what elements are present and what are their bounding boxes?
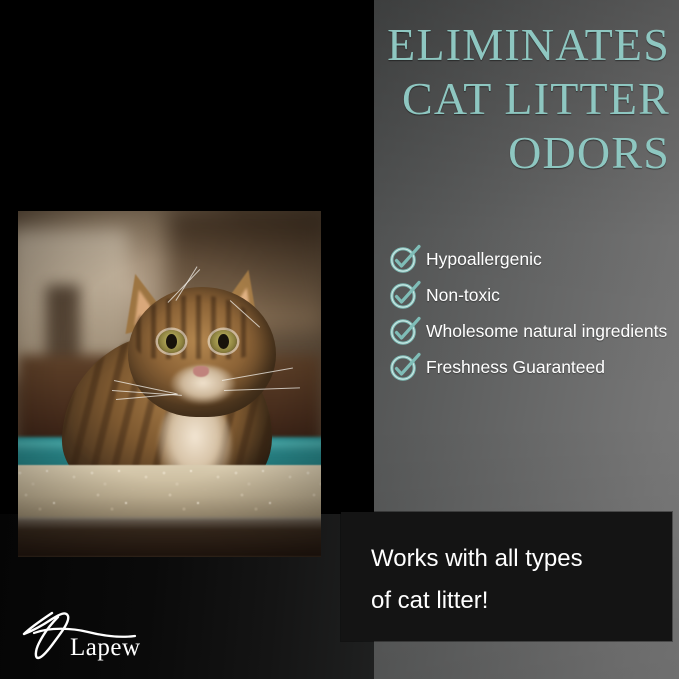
benefit-label: Hypoallergenic — [422, 243, 674, 271]
photo-vignette — [18, 211, 321, 557]
check-circle-icon — [388, 241, 422, 275]
brand-logo: Lapew — [16, 601, 186, 663]
callout-box: Works with all types of cat litter! — [341, 512, 672, 641]
check-circle-icon — [388, 277, 422, 311]
benefits-list: Hypoallergenic Non-toxic Wholesome n — [388, 243, 674, 387]
headline: ELIMINATES CAT LITTER ODORS — [270, 18, 670, 180]
benefit-item: Non-toxic — [388, 279, 674, 311]
check-circle-icon — [388, 313, 422, 347]
benefit-label: Wholesome natural ingredients — [422, 315, 674, 343]
benefit-item: Wholesome natural ingredients — [388, 315, 674, 347]
benefit-item: Hypoallergenic — [388, 243, 674, 275]
benefit-label: Freshness Guaranteed — [422, 351, 674, 379]
product-infographic: ELIMINATES CAT LITTER ODORS — [0, 0, 679, 679]
benefit-label: Non-toxic — [422, 279, 674, 307]
kitten-litter-box-photo — [18, 211, 321, 557]
benefit-item: Freshness Guaranteed — [388, 351, 674, 383]
script-l-monogram-icon: Lapew — [16, 601, 186, 663]
check-circle-icon — [388, 349, 422, 383]
photo-content — [18, 211, 321, 557]
brand-wordmark: Lapew — [70, 634, 141, 661]
callout-text: Works with all types of cat litter! — [371, 538, 649, 622]
